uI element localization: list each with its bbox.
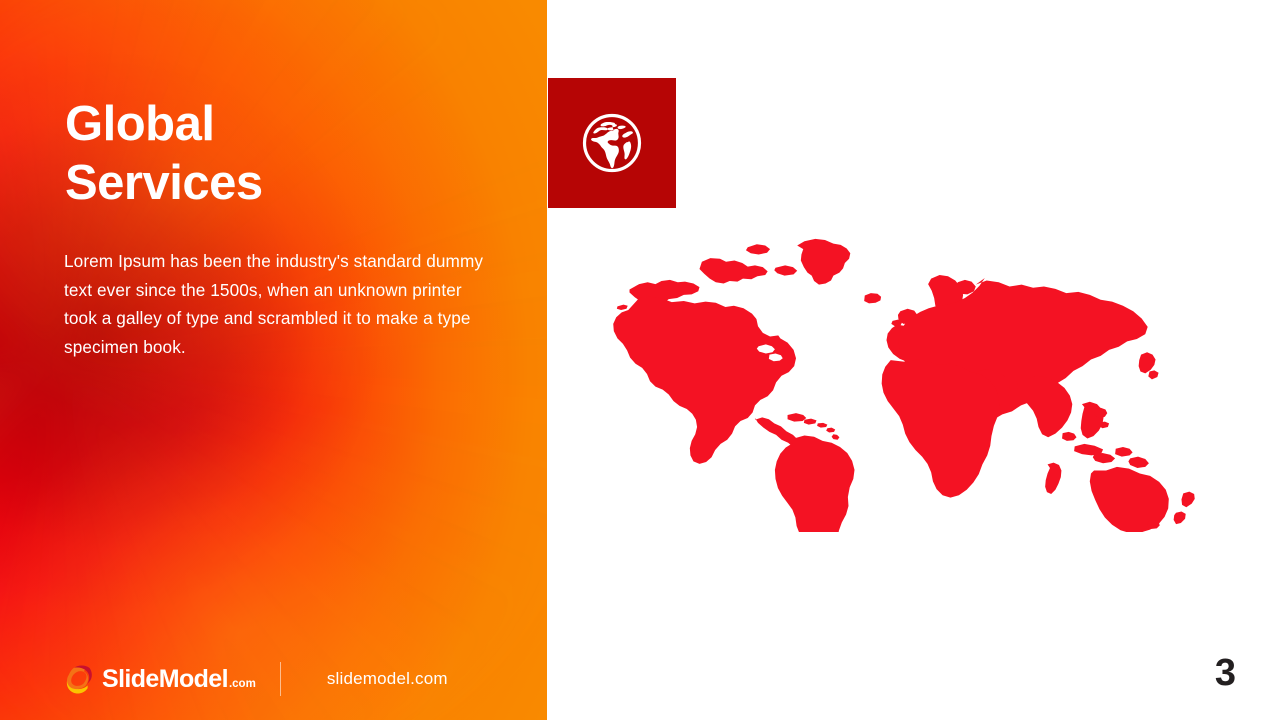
footer-divider (280, 662, 281, 696)
left-gradient-panel: Global Services Lorem Ipsum has been the… (0, 0, 547, 720)
world-map-svg (605, 234, 1209, 532)
globe-icon (580, 111, 644, 175)
page-title: Global Services (65, 95, 495, 213)
map-region-greenland (797, 239, 850, 285)
map-region-japan (1139, 352, 1159, 379)
map-region-canadian-arctic (699, 244, 797, 283)
slidemodel-logo[interactable]: SlideModel.com (64, 664, 256, 694)
map-region-africa (882, 359, 1000, 497)
slidemodel-logo-wordmark: SlideModel.com (102, 667, 256, 692)
slidemodel-logo-mark (64, 664, 94, 694)
page-number: 3 (1215, 654, 1236, 692)
world-map (605, 234, 1209, 532)
logo-text: SlideModel (102, 667, 228, 692)
logo-suffix: .com (229, 679, 256, 691)
map-region-madagascar (1045, 463, 1061, 494)
body-paragraph: Lorem Ipsum has been the industry's stan… (64, 247, 494, 362)
globe-icon-box (548, 78, 676, 208)
footer: SlideModel.com slidemodel.com (64, 656, 448, 702)
map-region-new-zealand (1174, 492, 1195, 525)
footer-url[interactable]: slidemodel.com (327, 669, 448, 689)
map-region-south-america (775, 435, 855, 532)
map-region-caribbean (788, 413, 840, 440)
map-region-iceland (864, 293, 881, 303)
map-region-indonesia (1062, 432, 1149, 468)
slide-canvas: Global Services Lorem Ipsum has been the… (0, 0, 1280, 720)
map-region-southeast-asia (1081, 402, 1104, 439)
